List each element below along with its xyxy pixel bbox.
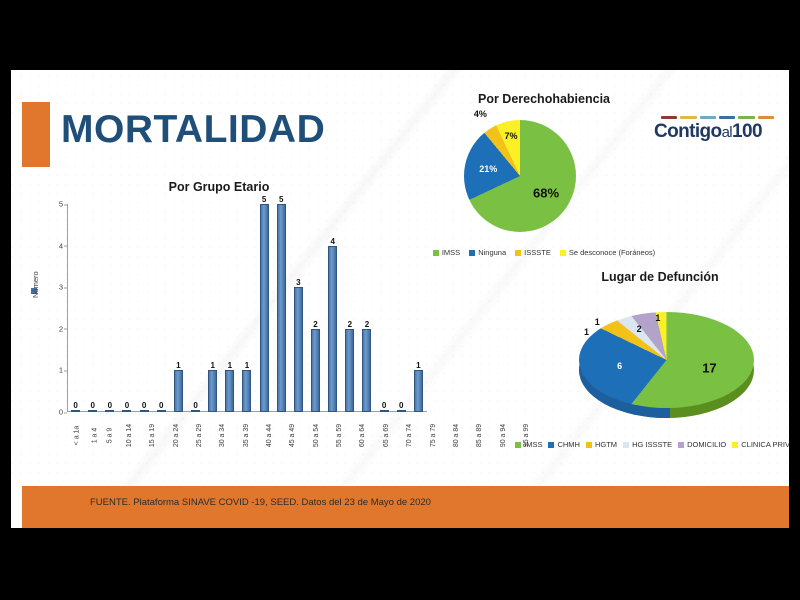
x-tick-label: 50 a 54 xyxy=(305,416,328,439)
bar-slot: 0 xyxy=(118,204,135,412)
x-tick-label: 40 a 44 xyxy=(258,416,281,439)
y-tick-1: 1 xyxy=(49,366,63,375)
bar-slot: 0 xyxy=(101,204,118,412)
bar: 0 xyxy=(105,410,114,412)
pie2-legend-swatch xyxy=(515,442,521,448)
bar: 0 xyxy=(397,410,406,412)
pie2-value-label: 2 xyxy=(637,324,642,334)
bar-slot: 0 xyxy=(84,204,101,412)
bar-value-label: 0 xyxy=(73,401,77,410)
pie2-legend-item[interactable]: HG ISSSTE xyxy=(623,440,672,449)
pie1-legend-swatch xyxy=(560,250,566,256)
y-tick-2: 2 xyxy=(49,324,63,333)
bar: 5 xyxy=(260,204,269,412)
x-tick-label: 35 a 39 xyxy=(235,416,258,439)
bar-slot: 5 xyxy=(273,204,290,412)
logo-dash-4 xyxy=(738,116,754,119)
bar-slot: 0 xyxy=(187,204,204,412)
logo-text-al: al xyxy=(722,124,732,141)
bar: 4 xyxy=(328,246,337,412)
pie1-legend-label: Ninguna xyxy=(478,248,506,257)
pie1-title: Por Derechohabiencia xyxy=(409,92,679,106)
bar-value-label: 1 xyxy=(245,361,249,370)
bar-value-label: 0 xyxy=(108,401,112,410)
pie2-legend-swatch xyxy=(586,442,592,448)
bar-slot: 4 xyxy=(324,204,341,412)
pie2-legend-label: HG ISSSTE xyxy=(632,440,672,449)
bar-value-label: 1 xyxy=(176,361,180,370)
bar-value-label: 1 xyxy=(416,361,420,370)
logo-dash-5 xyxy=(758,116,774,119)
bar: 2 xyxy=(345,329,354,412)
y-tick-4: 4 xyxy=(49,241,63,250)
bar-slot: 0 xyxy=(136,204,153,412)
bar-slot: 0 xyxy=(376,204,393,412)
pie1-legend-label: Se desconoce (Foráneos) xyxy=(569,248,655,257)
pie1-legend-swatch xyxy=(469,250,475,256)
logo-dash-1 xyxy=(680,116,696,119)
footer-source-text: FUENTE. Plataforma SINAVE COVID -19, SEE… xyxy=(90,497,431,508)
x-axis-tick-labels: < a 1a1 a 45 a 910 a 1415 a 1920 a 2425 … xyxy=(67,416,427,439)
pie2-disc-wrap: 1761121 xyxy=(579,300,754,425)
pie2-legend-swatch xyxy=(548,442,554,448)
x-tick-label: 70 a 74 xyxy=(398,416,421,439)
bar: 1 xyxy=(225,370,234,412)
pie2-legend-label: CHMH xyxy=(557,440,580,449)
bar: 0 xyxy=(71,410,80,412)
pie2-value-label: 1 xyxy=(655,313,660,323)
pie2-legend-swatch xyxy=(623,442,629,448)
bar-slot: 1 xyxy=(204,204,221,412)
bar-slot: 2 xyxy=(341,204,358,412)
x-tick-label: 1 a 4 xyxy=(87,416,103,439)
bar-chart-title: Por Grupo Etario xyxy=(89,180,349,194)
bar-value-label: 0 xyxy=(142,401,146,410)
x-tick-label: 90 a 94 xyxy=(492,416,515,439)
pie1-legend-item[interactable]: Se desconoce (Foráneos) xyxy=(560,248,655,257)
pie1-legend-item[interactable]: IMSS xyxy=(433,248,460,257)
pie2-value-label: 6 xyxy=(617,361,622,371)
bar: 5 xyxy=(277,204,286,412)
slide-footer: FUENTE. Plataforma SINAVE COVID -19, SEE… xyxy=(22,486,789,528)
bar-value-label: 0 xyxy=(159,401,163,410)
bar-value-label: 0 xyxy=(90,401,94,410)
logo-text-100: 100 xyxy=(732,121,762,142)
bar-slot: 1 xyxy=(238,204,255,412)
bar-value-label: 4 xyxy=(330,237,334,246)
pie1-legend-swatch xyxy=(515,250,521,256)
pie-chart-derechohabiencia: Por Derechohabiencia 68%21%4%7% IMSSNing… xyxy=(409,92,679,272)
bar-value-label: 5 xyxy=(262,195,266,204)
bar-value-label: 0 xyxy=(125,401,129,410)
pie1-legend-item[interactable]: Ninguna xyxy=(469,248,506,257)
pie2-legend-label: DOMICILIO xyxy=(687,440,726,449)
x-tick-label: 5 a 9 xyxy=(102,416,118,439)
pie1-legend: IMSSNingunaISSSTESe desconoce (Foráneos) xyxy=(409,248,679,257)
pie2-legend-item[interactable]: CLINICA PRIVADA xyxy=(732,440,789,449)
bar: 0 xyxy=(88,410,97,412)
bar: 0 xyxy=(191,410,200,412)
x-tick-label: < a 1a xyxy=(67,416,87,439)
bar-slot: 0 xyxy=(393,204,410,412)
bar-value-label: 0 xyxy=(399,401,403,410)
x-tick-label: 10 a 14 xyxy=(118,416,141,439)
y-tick-5: 5 xyxy=(49,200,63,209)
x-tick-label: 55 a 59 xyxy=(328,416,351,439)
page-title: MORTALIDAD xyxy=(61,108,325,152)
bar-value-label: 1 xyxy=(210,361,214,370)
pie2-value-label: 1 xyxy=(584,327,589,337)
pie2-title: Lugar de Defunción xyxy=(531,270,789,284)
bar: 2 xyxy=(311,329,320,412)
x-tick-label: 85 a 89 xyxy=(468,416,491,439)
pie2-legend-label: CLINICA PRIVADA xyxy=(741,440,789,449)
pie1-legend-label: ISSSTE xyxy=(524,248,551,257)
pie2-legend-item[interactable]: HGTM xyxy=(586,440,617,449)
bar-value-label: 2 xyxy=(348,320,352,329)
bar: 2 xyxy=(362,329,371,412)
pie2-legend-label: IMSS xyxy=(524,440,542,449)
bar-chart-grupo-etario: Por Grupo Etario Número 0000001011155324… xyxy=(19,180,439,470)
x-tick-label: 25 a 29 xyxy=(188,416,211,439)
pie1-value-label: 21% xyxy=(479,164,497,174)
bar-value-label: 1 xyxy=(228,361,232,370)
pie1-value-label: 68% xyxy=(533,185,559,200)
bar-plot-area: 000000101115532422001 012345 xyxy=(67,204,427,412)
pie1-legend-swatch xyxy=(433,250,439,256)
pie2-legend-swatch xyxy=(732,442,738,448)
bar: 0 xyxy=(122,410,131,412)
pie2-legend-swatch xyxy=(678,442,684,448)
screenshot-root: MORTALIDAD Contigoal100 Por Grupo Etario… xyxy=(0,0,800,600)
pie-chart-lugar-defuncion: Lugar de Defunción 1761121 IMSSCHMHHGTMH… xyxy=(531,270,789,470)
bar-value-label: 3 xyxy=(296,278,300,287)
x-tick-label: 65 a 69 xyxy=(375,416,398,439)
bar-slot: 0 xyxy=(153,204,170,412)
bar: 1 xyxy=(414,370,423,412)
bar-slot: 0 xyxy=(67,204,84,412)
bar-value-label: 2 xyxy=(313,320,317,329)
x-tick-label: 75 a 79 xyxy=(422,416,445,439)
bar-chart-y-axis-label: Número xyxy=(31,271,40,298)
logo-dash-3 xyxy=(719,116,735,119)
pie2-top-face xyxy=(579,312,754,408)
bar-slot: 1 xyxy=(221,204,238,412)
pie2-legend-label: HGTM xyxy=(595,440,617,449)
pie1-legend-item[interactable]: ISSSTE xyxy=(515,248,551,257)
x-tick-label: 30 a 34 xyxy=(211,416,234,439)
bar-slot: 5 xyxy=(256,204,273,412)
x-tick-label: 20 a 24 xyxy=(165,416,188,439)
bar-value-label: 2 xyxy=(365,320,369,329)
x-tick-label: 80 a 84 xyxy=(445,416,468,439)
x-tick-label: 45 a 49 xyxy=(281,416,304,439)
pie1-disc xyxy=(464,120,576,232)
pie1-legend-label: IMSS xyxy=(442,248,460,257)
bar: 1 xyxy=(208,370,217,412)
pie2-legend: IMSSCHMHHGTMHG ISSSTEDOMICILIOCLINICA PR… xyxy=(531,440,789,449)
bar-slot: 1 xyxy=(170,204,187,412)
bar-slot: 2 xyxy=(358,204,375,412)
pie2-value-label: 1 xyxy=(595,317,600,327)
bar: 1 xyxy=(242,370,251,412)
pie2-legend-item[interactable]: DOMICILIO xyxy=(678,440,726,449)
bar: 0 xyxy=(140,410,149,412)
bar-value-label: 0 xyxy=(193,401,197,410)
bar-slot: 3 xyxy=(290,204,307,412)
pie2-value-label: 17 xyxy=(702,361,716,376)
y-tick-0: 0 xyxy=(49,408,63,417)
bar: 1 xyxy=(174,370,183,412)
pie1-value-label: 4% xyxy=(474,109,487,119)
bar-slot: 2 xyxy=(307,204,324,412)
bar-series: 000000101115532422001 xyxy=(67,204,427,412)
bar: 0 xyxy=(157,410,166,412)
pie2-legend-item[interactable]: IMSS xyxy=(515,440,542,449)
x-tick-label: 15 a 19 xyxy=(141,416,164,439)
bar: 0 xyxy=(380,410,389,412)
x-tick-label: 60 a 64 xyxy=(351,416,374,439)
bar-value-label: 5 xyxy=(279,195,283,204)
y-tick-3: 3 xyxy=(49,283,63,292)
bar: 3 xyxy=(294,287,303,412)
pie1-value-label: 7% xyxy=(504,131,517,141)
logo-dash-2 xyxy=(700,116,716,119)
pie2-legend-item[interactable]: CHMH xyxy=(548,440,580,449)
bar-value-label: 0 xyxy=(382,401,386,410)
presentation-slide: MORTALIDAD Contigoal100 Por Grupo Etario… xyxy=(11,70,789,528)
title-accent-bar xyxy=(22,102,50,167)
